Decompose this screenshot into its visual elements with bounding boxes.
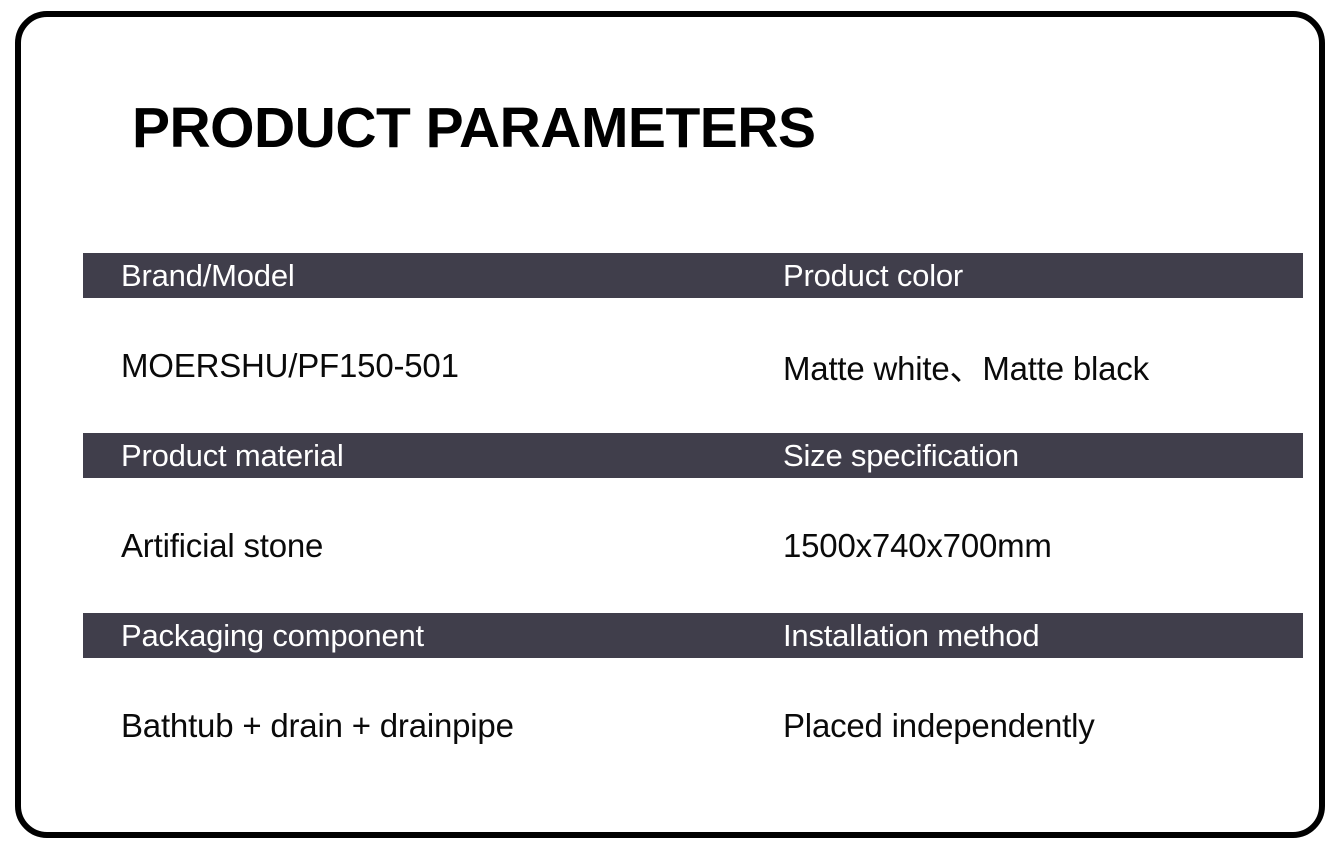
parameter-group: Brand/Model Product color MOERSHU/PF150-… (83, 253, 1303, 433)
table-row: Bathtub + drain + drainpipe Placed indep… (83, 658, 1303, 793)
table-row: Artificial stone 1500x740x700mm (83, 478, 1303, 613)
table-header-row: Product material Size specification (83, 433, 1303, 478)
header-cell-size-specification: Size specification (752, 433, 1303, 478)
parameter-group: Packaging component Installation method … (83, 613, 1303, 793)
header-cell-product-material: Product material (83, 433, 752, 478)
value-cell-size-specification: 1500x740x700mm (752, 527, 1303, 565)
page-title: PRODUCT PARAMETERS (132, 99, 815, 159)
table-header-row: Packaging component Installation method (83, 613, 1303, 658)
parameter-group: Product material Size specification Arti… (83, 433, 1303, 613)
header-cell-product-color: Product color (752, 253, 1303, 298)
header-cell-packaging-component: Packaging component (83, 613, 752, 658)
value-cell-installation-method: Placed independently (752, 707, 1303, 745)
value-cell-packaging-component: Bathtub + drain + drainpipe (83, 707, 752, 745)
table-header-row: Brand/Model Product color (83, 253, 1303, 298)
table-row: MOERSHU/PF150-501 Matte white、Matte blac… (83, 298, 1303, 433)
header-cell-brand-model: Brand/Model (83, 253, 752, 298)
product-parameters-card: PRODUCT PARAMETERS Brand/Model Product c… (15, 11, 1325, 838)
value-cell-brand-model: MOERSHU/PF150-501 (83, 347, 752, 385)
header-cell-installation-method: Installation method (752, 613, 1303, 658)
product-parameters-table: Brand/Model Product color MOERSHU/PF150-… (83, 253, 1303, 793)
value-cell-product-material: Artificial stone (83, 527, 752, 565)
value-cell-product-color: Matte white、Matte black (752, 342, 1303, 390)
